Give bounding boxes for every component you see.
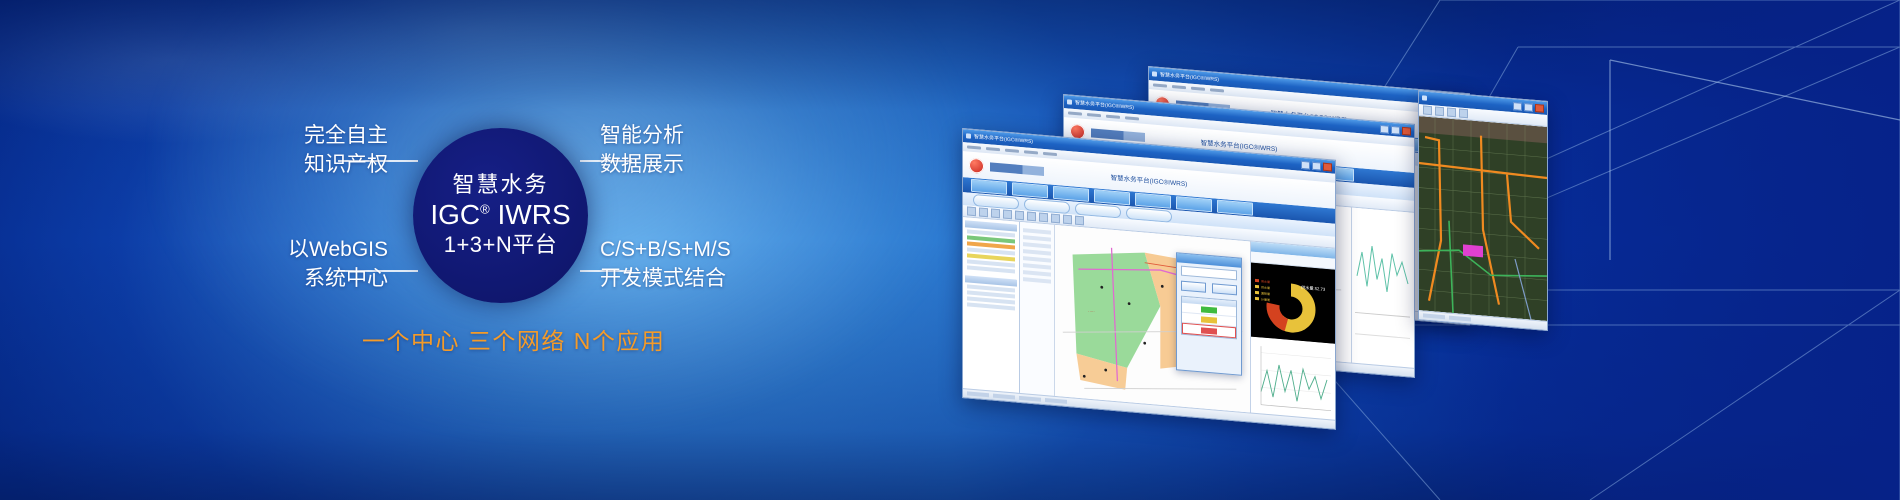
hub-brand: IGC xyxy=(430,199,480,230)
svg-text:漏损量: 漏损量 xyxy=(1261,290,1270,296)
svg-text:计量差: 计量差 xyxy=(1261,296,1270,302)
donut-chart: 供水量:52.73 用水量 供水量 漏损量 计量差 xyxy=(1251,263,1335,344)
layer-tree-panel[interactable] xyxy=(963,217,1020,393)
maximize-icon[interactable] xyxy=(1312,161,1321,170)
dialog-ok-button[interactable] xyxy=(1181,281,1206,293)
feature-bottom-right-line1: C/S+B/S+M/S xyxy=(600,238,731,261)
hub-product: IWRS xyxy=(498,199,571,230)
feature-top-left: 完全自主 知识产权 xyxy=(188,122,388,180)
trend-chart xyxy=(1251,337,1335,420)
app-title-front: 智慧水务平台(IGC®IWRS) xyxy=(1111,172,1188,189)
dialog-cancel-button[interactable] xyxy=(1212,283,1237,295)
svg-text:用水量: 用水量 xyxy=(1261,278,1270,284)
window-controls[interactable] xyxy=(1301,160,1332,171)
hub-line-3: 1+3+N平台 xyxy=(444,232,558,258)
feature-bottom-left-line2: 系统中心 xyxy=(178,265,388,294)
close-icon[interactable] xyxy=(1323,162,1332,171)
app-logo-icon xyxy=(969,157,984,173)
minimize-icon[interactable] xyxy=(1301,160,1310,169)
svg-text:供水量: 供水量 xyxy=(1261,284,1270,290)
feature-top-left-line2: 知识产权 xyxy=(188,151,388,180)
maximize-icon[interactable] xyxy=(1391,125,1400,134)
window-controls[interactable] xyxy=(1380,124,1411,135)
analysis-dialog[interactable] xyxy=(1176,252,1242,376)
dialog-result-table xyxy=(1181,296,1237,340)
feature-top-right-line2: 数据展示 xyxy=(600,151,684,180)
hub-circle: 智慧水务 IGC® IWRS 1+3+N平台 xyxy=(413,128,588,303)
satellite-body xyxy=(1419,116,1547,321)
analytics-panel: 供水量:52.73 用水量 供水量 漏损量 计量差 xyxy=(1250,241,1335,419)
map-canvas[interactable]: ····· xyxy=(1055,225,1250,413)
feature-bottom-right-line2: 开发模式结合 xyxy=(600,265,731,294)
window-front-body: ····· xyxy=(963,217,1335,420)
satellite-map-canvas[interactable] xyxy=(1419,116,1547,321)
window-satellite-map[interactable] xyxy=(1418,90,1548,331)
window-controls[interactable] xyxy=(1513,102,1544,113)
window-icon xyxy=(1067,99,1072,104)
dialog-input[interactable] xyxy=(1181,266,1237,281)
feature-top-right-line1: 智能分析 xyxy=(600,124,684,147)
hub-line-1: 智慧水务 xyxy=(452,173,548,197)
svg-text:·····: ····· xyxy=(1088,308,1094,314)
feature-bottom-right: C/S+B/S+M/S 开发模式结合 xyxy=(600,236,731,294)
maximize-icon[interactable] xyxy=(1524,103,1533,112)
window-icon xyxy=(1422,95,1427,100)
feature-bottom-left: 以WebGIS 系统中心 xyxy=(178,236,388,294)
banner-stage: 完全自主 知识产权 以WebGIS 系统中心 智能分析 数据展示 C/S+B/S… xyxy=(0,0,1900,500)
close-icon[interactable] xyxy=(1402,126,1411,135)
window-icon xyxy=(966,133,971,138)
feature-top-left-line1: 完全自主 xyxy=(304,124,388,147)
window-icon xyxy=(1152,71,1157,76)
close-icon[interactable] xyxy=(1535,103,1544,112)
minimize-icon[interactable] xyxy=(1513,102,1522,111)
feature-top-right: 智能分析 数据展示 xyxy=(600,122,684,180)
tool-palette-panel[interactable] xyxy=(1020,222,1055,396)
app-brand-text xyxy=(990,162,1044,176)
chart-panel xyxy=(1351,207,1414,367)
feature-bottom-left-line1: 以WebGIS xyxy=(288,238,388,261)
window-front[interactable]: 智慧水务平台(IGC®IWRS) 智慧水务平台(IGC®IWRS) xyxy=(962,128,1336,430)
minimize-icon[interactable] xyxy=(1380,124,1389,133)
hub-line-2: IGC® IWRS xyxy=(430,197,570,232)
tagline: 一个中心 三个网络 N个应用 xyxy=(362,322,665,356)
registered-icon: ® xyxy=(480,202,490,217)
